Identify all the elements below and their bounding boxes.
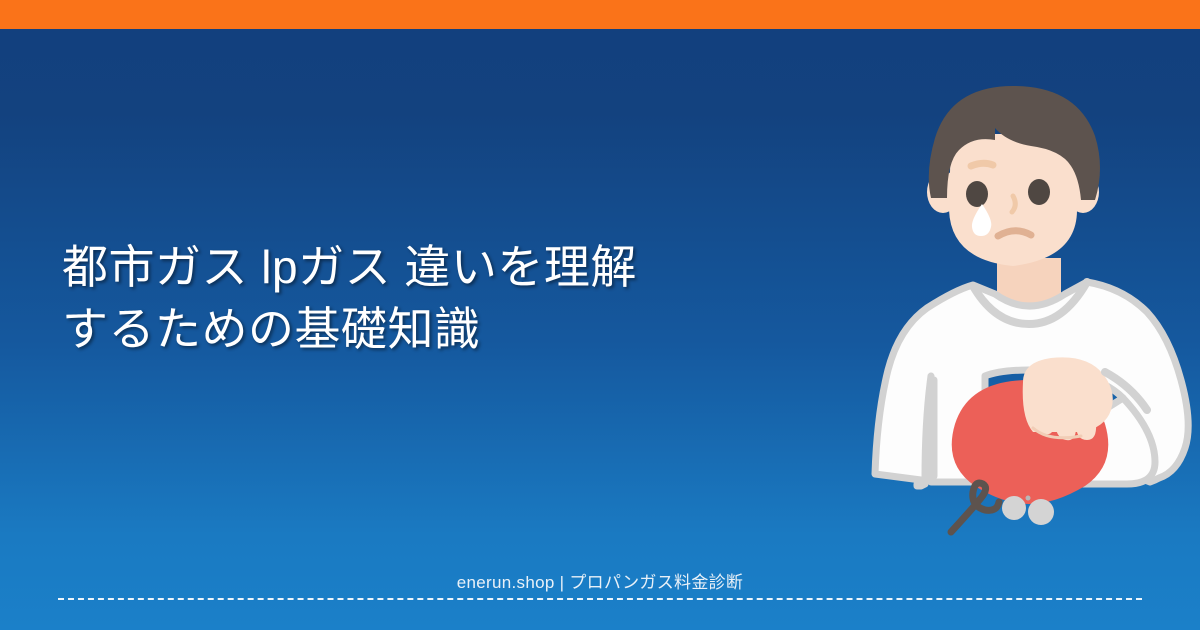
purse-clasp-knob-left bbox=[1002, 496, 1026, 520]
eyebrow-left bbox=[971, 163, 993, 166]
footer: enerun.shop | プロパンガス料金診断 bbox=[0, 570, 1200, 620]
eye-left bbox=[966, 181, 988, 207]
footer-divider bbox=[58, 598, 1142, 600]
eye-right bbox=[1028, 179, 1050, 205]
page-title: 都市ガス lpガス 違いを理解 するための基礎知識 bbox=[62, 236, 762, 360]
head bbox=[927, 86, 1100, 266]
top-accent-bar bbox=[0, 0, 1200, 29]
title-line-2: するための基礎知識 bbox=[62, 298, 762, 360]
og-image-card: 都市ガス lpガス 違いを理解 するための基礎知識 bbox=[0, 0, 1200, 630]
purse-clasp-knob-right bbox=[1028, 499, 1054, 525]
title-line-1: 都市ガス lpガス 違いを理解 bbox=[62, 236, 762, 298]
footer-text-wrap: enerun.shop | プロパンガス料金診断 bbox=[0, 570, 1200, 596]
site-attribution: enerun.shop | プロパンガス料金診断 bbox=[443, 570, 757, 596]
illustration-crying-boy-coin-purse bbox=[855, 80, 1200, 550]
